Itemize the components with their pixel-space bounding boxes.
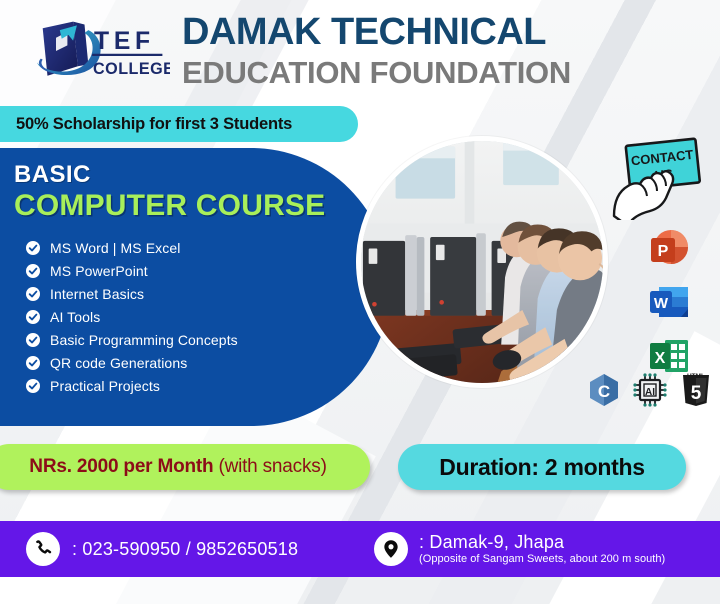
flyer-canvas: TEF COLLEGE DAMAK TECHNICAL EDUCATION FO… [0,0,720,604]
c-language-letter: C [598,382,610,401]
html5-icon: HTML 5 [678,372,714,408]
course-eyebrow: BASIC [14,162,325,188]
footer-phone-text: : 023-590950 / 9852650518 [72,539,298,560]
feature-label: Basic Programming Concepts [50,332,238,348]
title-line-primary: DAMAK TECHNICAL [182,13,571,53]
logo-graphic: TEF COLLEGE [18,9,170,95]
list-item: QR code Generations [26,351,238,374]
phone-icon [34,540,53,559]
technology-icon-row: C AI HTML 5 [586,372,714,408]
footer-address-sub: (Opposite of Sangam Sweets, about 200 m … [419,553,665,566]
organization-title: DAMAK TECHNICAL EDUCATION FOUNDATION [182,13,571,91]
course-feature-list: MS Word | MS Excel MS PowerPoint Interne… [26,236,238,397]
c-language-icon: C [586,372,622,408]
footer-address-block: : Damak-9, Jhapa (Opposite of Sangam Swe… [419,532,665,567]
scholarship-text: 50% Scholarship for first 3 Students [16,115,292,134]
scholarship-banner: 50% Scholarship for first 3 Students [0,106,358,142]
course-heading: BASIC COMPUTER COURSE [14,162,325,224]
computer-lab-photo [356,136,608,388]
price-banner: NRs. 2000 per Month (with snacks) [0,444,370,490]
tef-college-logo: TEF COLLEGE [14,7,174,97]
list-item: MS PowerPoint [26,259,238,282]
contact-us-hand-icon: CONTACT US [608,134,716,220]
list-item: AI Tools [26,305,238,328]
price-note: (with snacks) [218,456,326,478]
excel-letter: X [655,350,666,367]
map-pin-icon-badge [374,532,408,566]
feature-label: QR code Generations [50,355,187,371]
contact-footer: : 023-590950 / 9852650518 : Damak-9, Jha… [0,521,720,577]
contact-us-sticker[interactable]: CONTACT US [608,134,716,220]
powerpoint-icon: P [647,226,691,270]
word-icon: W [647,280,691,324]
feature-label: MS Word | MS Excel [50,240,180,256]
html5-label: HTML [687,373,705,380]
word-letter: W [654,295,669,312]
list-item: Internet Basics [26,282,238,305]
price-amount: NRs. 2000 per Month [29,456,213,478]
duration-text: Duration: 2 months [439,454,644,481]
software-icon-rail: P W X [640,226,698,378]
check-circle-icon [26,356,40,370]
footer-address-main: : Damak-9, Jhapa [419,532,665,553]
map-pin-icon [381,539,401,559]
footer-phone-group[interactable]: : 023-590950 / 9852650518 [26,532,366,566]
check-circle-icon [26,333,40,347]
ai-chip-letters: AI [645,387,655,398]
check-circle-icon [26,310,40,324]
feature-label: Internet Basics [50,286,144,302]
feature-label: AI Tools [50,309,100,325]
flyer-header: TEF COLLEGE DAMAK TECHNICAL EDUCATION FO… [0,0,720,104]
phone-icon-badge [26,532,60,566]
list-item: Basic Programming Concepts [26,328,238,351]
footer-address-group[interactable]: : Damak-9, Jhapa (Opposite of Sangam Swe… [374,532,665,567]
powerpoint-letter: P [658,243,669,260]
logo-primary-text: TEF [94,28,155,55]
list-item: MS Word | MS Excel [26,236,238,259]
duration-banner: Duration: 2 months [398,444,686,490]
svg-text:5: 5 [691,383,702,404]
photo-illustration [361,141,603,383]
check-circle-icon [26,287,40,301]
check-circle-icon [26,264,40,278]
check-circle-icon [26,241,40,255]
feature-label: Practical Projects [50,378,160,394]
list-item: Practical Projects [26,374,238,397]
check-circle-icon [26,379,40,393]
logo-secondary-text: COLLEGE [93,60,170,78]
feature-label: MS PowerPoint [50,263,148,279]
course-title: COMPUTER COURSE [14,189,325,224]
title-line-secondary: EDUCATION FOUNDATION [182,55,571,91]
ai-chip-icon: AI [632,372,668,408]
